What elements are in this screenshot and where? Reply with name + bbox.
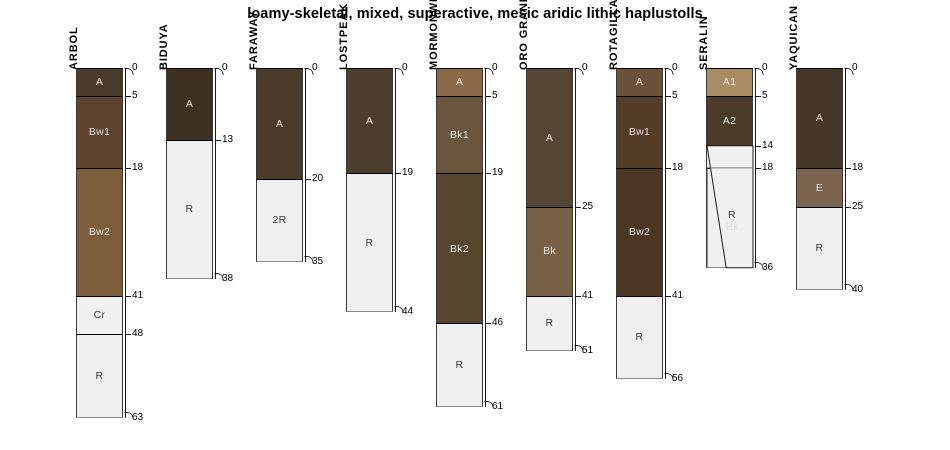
horizon-label: A (186, 99, 193, 110)
axis-tick-label: 63 (132, 413, 143, 423)
axis-tick (755, 96, 761, 97)
horizon-label: Bk2 (450, 244, 469, 255)
horizon-r[interactable]: R (166, 140, 213, 279)
profile-name-label: ARBOL (68, 26, 80, 70)
horizon-label: A (636, 77, 643, 88)
axis-tick-label: 0 (132, 63, 138, 73)
axis-tick-label: 51 (582, 346, 593, 356)
axis-tick (485, 173, 491, 174)
horizon-a[interactable]: A (436, 68, 483, 96)
axis-tick-label: 18 (672, 163, 683, 173)
horizon-r[interactable]: R (526, 296, 573, 352)
axis-tick (215, 140, 221, 141)
horizon-column: AR (166, 68, 213, 279)
horizon-a[interactable]: A (256, 68, 303, 179)
axis-tick (665, 168, 671, 169)
depth-axis: 05194661 (485, 68, 486, 407)
horizon-label: R (96, 371, 104, 382)
horizon-e[interactable]: E (796, 168, 843, 207)
depth-axis: 05141836 (755, 68, 756, 268)
depth-axis: 02035 (305, 68, 306, 262)
horizon-label: Bw1 (629, 127, 650, 138)
profile-name-label: BIDUYA (158, 23, 170, 70)
axis-tick-label: 13 (222, 135, 233, 145)
axis-tick-label: 18 (852, 163, 863, 173)
horizon-a[interactable]: A (346, 68, 393, 173)
horizon-2r[interactable]: 2R (256, 179, 303, 262)
horizon-label: A (276, 119, 283, 130)
axis-tick-label: 38 (222, 274, 233, 284)
horizon-bw1[interactable]: Bw1 (76, 96, 123, 168)
axis-tick-label: 18 (762, 163, 773, 173)
axis-tick-label: 19 (492, 168, 503, 178)
axis-tick-label: 14 (762, 141, 773, 151)
horizon-label: A (96, 77, 103, 88)
horizon-a[interactable]: A (166, 68, 213, 140)
axis-tick-label: 25 (852, 202, 863, 212)
depth-axis: 0254151 (575, 68, 576, 351)
axis-tick-label: 0 (582, 63, 588, 73)
profile-name-label: ROTAGILLA (608, 0, 620, 70)
axis-tick-label: 5 (132, 91, 138, 101)
horizon-label: R (816, 243, 824, 254)
axis-tick-label: 41 (672, 291, 683, 301)
horizon-bk1[interactable]: Bk1 (436, 96, 483, 174)
horizon-label: R (636, 332, 644, 343)
horizon-column: ABkR (526, 68, 573, 351)
axis-tick (755, 168, 761, 169)
horizon-label: R (546, 318, 554, 329)
axis-tick-label: 5 (762, 91, 768, 101)
axis-tick-label: 36 (762, 263, 773, 273)
horizon-column: ABk1Bk2R (436, 68, 483, 407)
depth-axis: 01338 (215, 68, 216, 279)
horizon-label: A (816, 113, 823, 124)
depth-axis: 05184156 (665, 68, 666, 379)
depth-axis: 0518414863 (125, 68, 126, 418)
axis-tick (125, 334, 131, 335)
depth-axis: 01944 (395, 68, 396, 312)
profile-name-label: MORMONWELL (428, 0, 440, 70)
axis-tick-label: 0 (402, 63, 408, 73)
axis-tick (395, 173, 401, 174)
axis-tick (575, 207, 581, 208)
seralin-wedge-boundary (706, 0, 755, 450)
axis-tick (665, 296, 671, 297)
axis-tick (845, 168, 851, 169)
horizon-column: AER (796, 68, 843, 290)
axis-tick (845, 207, 851, 208)
horizon-column: A2R (256, 68, 303, 262)
axis-tick-label: 5 (492, 91, 498, 101)
horizon-label: A (546, 133, 553, 144)
depth-axis: 0182540 (845, 68, 846, 290)
axis-tick-label: 56 (672, 374, 683, 384)
horizon-cr[interactable]: Cr (76, 296, 123, 335)
horizon-label: Bk1 (450, 130, 469, 141)
horizon-label: E (816, 183, 823, 194)
axis-tick-label: 46 (492, 318, 503, 328)
axis-tick-label: 18 (132, 163, 143, 173)
horizon-bw1[interactable]: Bw1 (616, 96, 663, 168)
axis-tick-label: 0 (222, 63, 228, 73)
horizon-a[interactable]: A (526, 68, 573, 207)
horizon-r[interactable]: R (346, 173, 393, 312)
horizon-bw2[interactable]: Bw2 (616, 168, 663, 296)
horizon-label: Cr (94, 310, 106, 321)
horizon-column: ABw1Bw2CrR (76, 68, 123, 418)
axis-tick-label: 48 (132, 329, 143, 339)
horizon-label: R (456, 360, 464, 371)
horizon-label: R (186, 204, 194, 215)
soil-profile-panel: ARBOLABw1Bw2CrR0518414863BIDUYAAR01338FA… (0, 0, 950, 450)
horizon-label: 2R (272, 215, 286, 226)
axis-tick-label: 0 (762, 63, 768, 73)
horizon-label: A (456, 77, 463, 88)
axis-tick (125, 96, 131, 97)
axis-tick-label: 0 (492, 63, 498, 73)
horizon-label: Bw2 (89, 227, 110, 238)
horizon-a[interactable]: A (76, 68, 123, 96)
horizon-column: AR (346, 68, 393, 312)
horizon-label: Bk (543, 246, 556, 257)
horizon-a[interactable]: A (616, 68, 663, 96)
profile-name-label: FARAWAY (248, 10, 260, 70)
profile-name-label: LOSTPEAK (338, 3, 350, 70)
horizon-label: R (366, 238, 374, 249)
axis-tick-label: 0 (312, 63, 318, 73)
axis-tick-label: 5 (672, 91, 678, 101)
axis-tick-label: 19 (402, 168, 413, 178)
axis-tick-label: 25 (582, 202, 593, 212)
axis-tick (485, 96, 491, 97)
axis-tick (665, 96, 671, 97)
horizon-r[interactable]: R (616, 296, 663, 379)
horizon-bk[interactable]: Bk (526, 207, 573, 296)
horizon-label: A (366, 116, 373, 127)
axis-tick-label: 44 (402, 307, 413, 317)
axis-tick (755, 146, 761, 147)
axis-tick-label: 0 (672, 63, 678, 73)
axis-tick (575, 296, 581, 297)
axis-tick-label: 20 (312, 174, 323, 184)
horizon-r[interactable]: R (76, 334, 123, 417)
horizon-column: ABw1Bw2R (616, 68, 663, 379)
axis-tick-label: 35 (312, 257, 323, 267)
axis-tick-label: 41 (582, 291, 593, 301)
horizon-a[interactable]: A (796, 68, 843, 168)
profile-name-label: ORO GRANDE (518, 0, 530, 70)
horizon-label: Bw2 (629, 227, 650, 238)
horizon-label: Bw1 (89, 127, 110, 138)
axis-tick (305, 179, 311, 180)
horizon-r[interactable]: R (436, 323, 483, 406)
horizon-bk2[interactable]: Bk2 (436, 173, 483, 323)
axis-tick-label: 0 (852, 63, 858, 73)
axis-tick-label: 40 (852, 285, 863, 295)
profile-name-label: YAQUICAN (788, 5, 800, 70)
axis-tick (125, 296, 131, 297)
horizon-bw2[interactable]: Bw2 (76, 168, 123, 296)
axis-tick (125, 168, 131, 169)
horizon-r[interactable]: R (796, 207, 843, 290)
axis-tick-label: 41 (132, 291, 143, 301)
axis-tick (485, 323, 491, 324)
axis-tick-label: 61 (492, 402, 503, 412)
